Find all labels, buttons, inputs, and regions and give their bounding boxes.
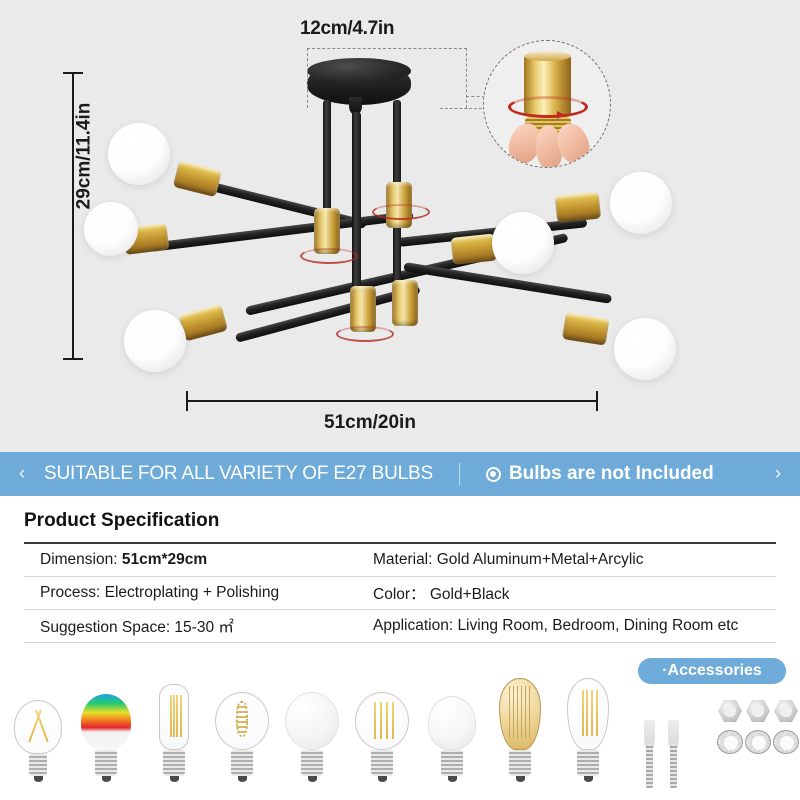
compatible-bulbs-section: ·Accessories (0, 656, 800, 800)
hex-nut (774, 700, 798, 722)
hex-nut (718, 700, 742, 722)
spec-cell-color: Color： Gold+Black (369, 582, 776, 604)
bulb-g80-clear-filament (350, 692, 414, 782)
base-tip (584, 776, 593, 782)
lamp-bulb (610, 172, 672, 234)
base-tip (516, 776, 525, 782)
lamp-socket (555, 191, 602, 222)
lamp-socket (173, 160, 222, 197)
e27-base (577, 750, 599, 776)
base-tip (102, 776, 111, 782)
banner-text-right-label: Bulbs are not Included (509, 463, 714, 485)
socket-rotation-ring (336, 326, 394, 342)
e27-base (231, 750, 253, 776)
gold-socket-cap-top (524, 51, 571, 61)
top-dimension-label: 12cm/4.7in (300, 18, 394, 40)
screw (670, 744, 677, 788)
spec-cell-process: Process: Electroplating + Polishing (24, 584, 369, 602)
prev-arrow-icon[interactable]: ‹ (0, 463, 44, 485)
bulb-a19-frosted (420, 696, 484, 782)
bulb-g80-spiral-filament (210, 692, 274, 782)
base-tip (448, 776, 457, 782)
lock-washer (717, 730, 743, 754)
width-dimension-line (186, 400, 598, 402)
e27-base (441, 750, 463, 776)
spec-label: Dimension: (40, 551, 122, 568)
lamp-stem (352, 112, 361, 288)
height-dimension-label: 29cm/11.4in (73, 103, 95, 210)
base-tip (378, 776, 387, 782)
e27-base (29, 754, 47, 776)
wire-nut (690, 696, 706, 722)
base-tip (170, 776, 179, 782)
lamp-socket (179, 304, 228, 341)
filament-icon (568, 690, 608, 736)
lock-washer (745, 730, 771, 754)
next-arrow-icon[interactable]: › (756, 463, 800, 485)
lamp-bulb (84, 202, 138, 256)
filament-icon (356, 702, 408, 739)
e27-base (95, 750, 117, 776)
bulb-glass (285, 692, 339, 750)
product-specification-section: Product Specification Dimension: 51cm*29… (0, 496, 800, 656)
lamp-socket (392, 280, 418, 326)
screw (646, 744, 653, 788)
spec-cell-application: Application: Living Room, Bedroom, Dinin… (369, 617, 776, 635)
filament-icon (15, 709, 61, 743)
table-row: Process: Electroplating + Polishing Colo… (24, 577, 776, 610)
accessories-section: ·Accessories (624, 656, 800, 800)
filament-icon (509, 686, 531, 738)
banner-divider (459, 463, 460, 485)
wire-nut (666, 696, 682, 722)
table-row: Dimension: 51cm*29cm Material: Gold Alum… (24, 544, 776, 577)
e27-base (509, 750, 531, 776)
lamp-bulb (614, 318, 676, 380)
socket-rotation-ring (300, 248, 358, 264)
page-title: Product Specification (24, 510, 219, 532)
lamp-socket (562, 312, 610, 346)
lock-washer (773, 730, 799, 754)
e27-base (301, 750, 323, 776)
lamp-bulb (492, 212, 554, 274)
e27-base (163, 750, 185, 776)
socket-rotation-ring (372, 204, 430, 220)
specification-table: Dimension: 51cm*29cm Material: Gold Alum… (24, 544, 776, 643)
accessories-items (624, 690, 800, 798)
base-tip (238, 776, 247, 782)
bulb-st64-vintage-amber (488, 678, 552, 782)
socket-detail-inset (483, 40, 611, 168)
canopy-callout-box (307, 48, 467, 108)
bulb-gallery (0, 656, 640, 800)
product-detail-page: 12cm/4.7in 29cm/11.4in 51cm/20in ‹ SUITA… (0, 0, 800, 800)
lamp-bulb (124, 310, 186, 372)
product-hero-image: 12cm/4.7in 29cm/11.4in 51cm/20in (0, 0, 800, 452)
bulb-st64-clear-filament (556, 678, 620, 782)
banner-text-left: SUITABLE FOR ALL VARIETY OF E27 BULBS (44, 463, 433, 485)
lamp-arm (149, 211, 413, 252)
feature-banner: ‹ SUITABLE FOR ALL VARIETY OF E27 BULBS … (0, 452, 800, 496)
spec-cell-suggestion-space: Suggestion Space: 15-30 ㎡ (24, 615, 369, 637)
bulb-glass (567, 678, 609, 750)
bulb-glass (81, 694, 131, 750)
bulb-glass (499, 678, 541, 750)
base-tip (308, 776, 317, 782)
bulb-glass (215, 692, 269, 750)
hex-nut (746, 700, 770, 722)
lamp-stem (323, 100, 331, 218)
radio-dot-icon (486, 467, 501, 482)
bulb-g80-frosted (280, 692, 344, 782)
spec-cell-material: Material: Gold Aluminum+Metal+Arcylic (369, 551, 776, 569)
status-badge: ·Accessories (638, 658, 786, 684)
bulb-a19-clear-filament (6, 700, 70, 782)
spiral-filament-icon (236, 701, 249, 737)
filament-icon (160, 695, 188, 737)
width-dimension-label: 51cm/20in (0, 412, 800, 434)
e27-base (371, 750, 393, 776)
bulb-t45-tubular-filament (142, 684, 206, 782)
bulb-rgb-smart (74, 694, 138, 782)
bulb-glass (355, 692, 409, 750)
spec-value: 51cm*29cm (122, 551, 207, 568)
base-tip (34, 776, 43, 782)
lamp-bulb (108, 123, 170, 185)
spec-cell-dimension: Dimension: 51cm*29cm (24, 551, 369, 569)
rotation-arrow-icon (508, 96, 588, 118)
banner-text-right: Bulbs are not Included (486, 463, 714, 485)
lamp-socket (451, 233, 498, 264)
table-row: Suggestion Space: 15-30 ㎡ Application: L… (24, 610, 776, 643)
bulb-glass (14, 700, 62, 754)
bulb-glass (428, 696, 476, 750)
bulb-glass (159, 684, 189, 750)
